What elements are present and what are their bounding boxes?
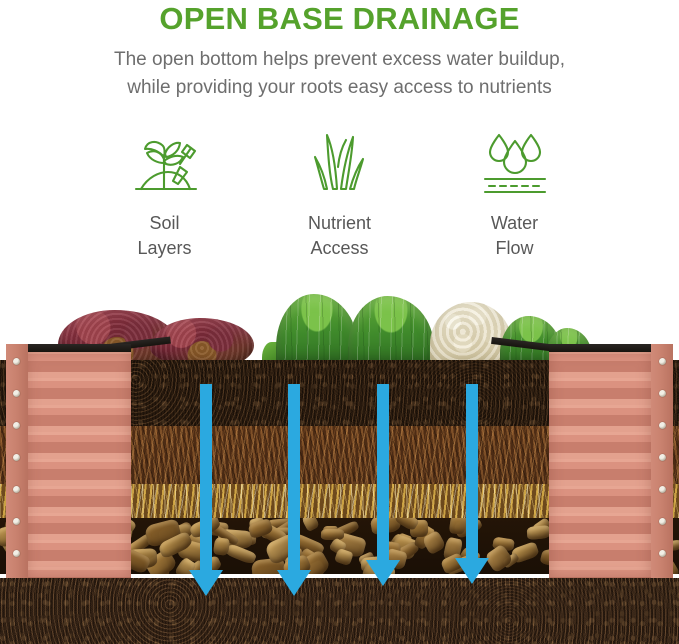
screw (13, 358, 20, 365)
page-title: OPEN BASE DRAINAGE (0, 2, 679, 36)
bed-panel-left (6, 344, 131, 578)
screw (659, 358, 666, 365)
screw (659, 422, 666, 429)
screw (659, 390, 666, 397)
screw (659, 454, 666, 461)
screw (659, 486, 666, 493)
feature-label-line-2: Layers (77, 236, 252, 261)
water-drainage-arrow (274, 384, 314, 596)
screw (13, 454, 20, 461)
feature-label-line-1: Soil (77, 211, 252, 236)
garden-bed-cross-section (0, 286, 679, 644)
corner-post-right (651, 344, 673, 578)
feature-label-nutrient-access: Nutrient Access (252, 211, 427, 261)
wood-chunk (527, 525, 551, 539)
corrugated-metal-left (26, 351, 131, 578)
feature-label-water-flow: Water Flow (427, 211, 602, 261)
screw (13, 518, 20, 525)
feature-label-line-2: Access (252, 236, 427, 261)
screw (13, 422, 20, 429)
wood-chunk (321, 529, 344, 541)
plant-shovel-icon (77, 126, 252, 198)
header: OPEN BASE DRAINAGE The open bottom helps… (0, 0, 679, 102)
plant-green-cabbage-head (348, 296, 434, 368)
screw (659, 518, 666, 525)
feature-nutrient-access: Nutrient Access (252, 126, 427, 261)
subtitle-line-1: The open bottom helps prevent excess wat… (40, 46, 640, 74)
page-subtitle: The open bottom helps prevent excess wat… (40, 46, 640, 102)
water-drainage-arrow (186, 384, 226, 596)
subtitle-line-2: while providing your roots easy access t… (40, 74, 640, 102)
feature-icon-row: Soil Layers Nutrient Access (0, 126, 679, 261)
corrugated-metal-right (549, 351, 651, 578)
screw (659, 550, 666, 557)
feature-label-line-1: Nutrient (252, 211, 427, 236)
water-drainage-arrow (452, 384, 492, 584)
corner-post-left (6, 344, 28, 578)
feature-water-flow: Water Flow (427, 126, 602, 261)
feature-label-line-1: Water (427, 211, 602, 236)
water-drainage-arrow (363, 384, 403, 586)
feature-soil-layers: Soil Layers (77, 126, 252, 261)
water-droplets-icon (427, 126, 602, 198)
screw (13, 486, 20, 493)
screw (13, 550, 20, 557)
screw (13, 390, 20, 397)
plant-green-cabbage-head (276, 294, 358, 368)
feature-label-soil-layers: Soil Layers (77, 211, 252, 261)
bed-panel-right (549, 344, 673, 578)
feature-label-line-2: Flow (427, 236, 602, 261)
ground-soil-layer (0, 578, 679, 644)
grass-blades-icon (252, 126, 427, 198)
